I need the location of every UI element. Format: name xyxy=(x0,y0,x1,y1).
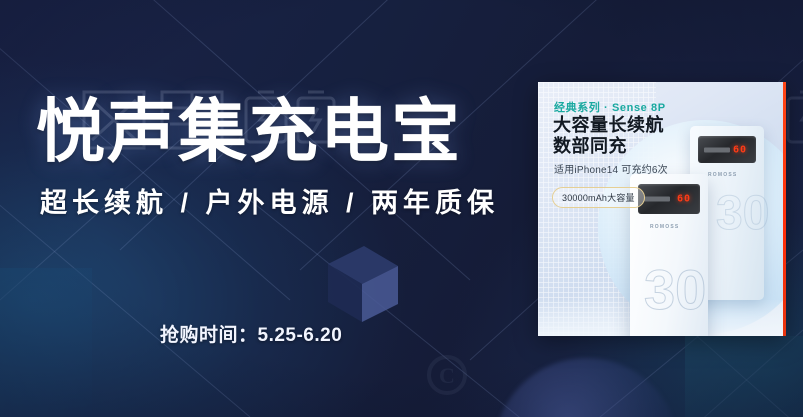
capacity-badge: 30000mAh大容量 xyxy=(552,187,645,208)
brand-label-back: ROMOSS xyxy=(708,172,737,178)
card-series-label: 经典系列 · Sense 8P xyxy=(554,99,666,115)
led-digits-back: 60 xyxy=(733,144,747,155)
led-display-back: 60 xyxy=(698,136,756,163)
card-accent-strip xyxy=(783,82,786,336)
page-title: 悦声集充电宝 xyxy=(36,97,462,166)
sale-period-text: 抢购时间：5.25-6.20 xyxy=(160,320,342,347)
led-bar-back xyxy=(704,147,730,152)
model-number-front: 30 xyxy=(644,262,706,318)
product-card[interactable]: 60 ROMOSS 30 60 ROMOSS 30 经典系列 · Sense 8… xyxy=(538,82,786,336)
promo-banner: C 悦声集充电宝 超长续航 / 户外电源 / 两年质保 抢购时间：5.25-6.… xyxy=(0,0,803,417)
brand-label-front: ROMOSS xyxy=(650,224,679,230)
led-digits-front: 60 xyxy=(677,194,691,205)
card-subtitle: 适用iPhone14 可充约6次 xyxy=(554,161,668,176)
page-subtitle: 超长续航 / 户外电源 / 两年质保 xyxy=(40,190,499,217)
card-title: 大容量长续航 数部同充 xyxy=(553,115,664,157)
copyright-watermark-icon: C xyxy=(424,352,470,398)
card-title-line2: 数部同充 xyxy=(553,136,664,157)
model-number-back: 30 xyxy=(716,190,769,238)
led-display-front: 60 xyxy=(638,184,700,214)
led-bar-front xyxy=(644,197,670,202)
svg-text:C: C xyxy=(439,363,455,388)
card-title-line1: 大容量长续航 xyxy=(553,115,664,136)
